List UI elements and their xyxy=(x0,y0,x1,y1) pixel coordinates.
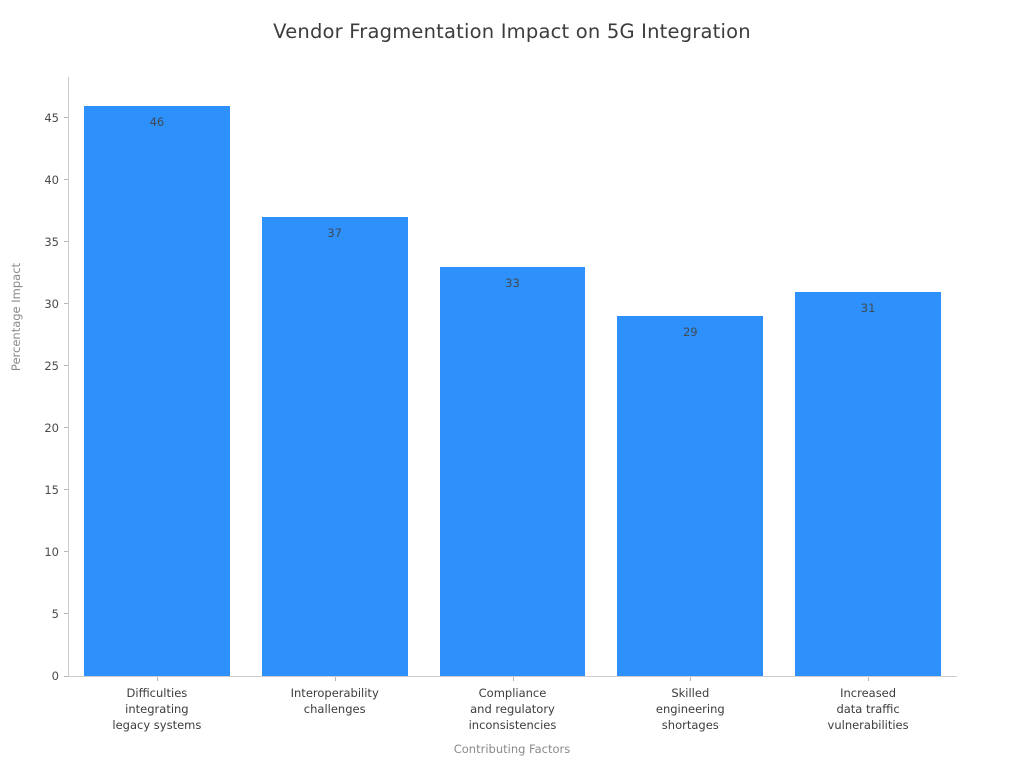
bar-value-label: 31 xyxy=(795,301,941,315)
y-axis-spine xyxy=(68,77,69,677)
y-tick-label: 25 xyxy=(44,358,59,374)
y-tick-mark xyxy=(64,365,68,366)
x-axis-title: Contributing Factors xyxy=(0,742,1024,756)
y-tick-label: 10 xyxy=(44,544,59,560)
x-tick-mark xyxy=(690,677,691,681)
bar[interactable] xyxy=(440,267,586,676)
bar-value-label: 46 xyxy=(84,115,230,129)
y-tick-label: 5 xyxy=(52,606,59,622)
y-tick-label: 45 xyxy=(44,110,59,126)
y-tick-mark xyxy=(64,117,68,118)
bar-value-label: 33 xyxy=(440,276,586,290)
y-tick-mark xyxy=(64,676,68,677)
x-category-label: Skilled engineering shortages xyxy=(601,685,779,733)
x-category-label: Compliance and regulatory inconsistencie… xyxy=(424,685,602,733)
y-tick-label: 15 xyxy=(44,482,59,498)
y-axis-title: Percentage Impact xyxy=(9,227,23,407)
bar[interactable] xyxy=(617,316,763,676)
y-tick-mark xyxy=(64,551,68,552)
y-tick-label: 0 xyxy=(52,668,59,684)
bar-value-label: 37 xyxy=(262,226,408,240)
y-tick-mark xyxy=(64,179,68,180)
chart-title: Vendor Fragmentation Impact on 5G Integr… xyxy=(0,20,1024,43)
x-category-label: Increased data traffic vulnerabilities xyxy=(779,685,957,733)
x-tick-mark xyxy=(868,677,869,681)
y-tick-label: 20 xyxy=(44,420,59,436)
bar-value-label: 29 xyxy=(617,325,763,339)
y-tick-mark xyxy=(64,489,68,490)
y-tick-mark xyxy=(64,613,68,614)
x-category-label: Interoperability challenges xyxy=(246,685,424,717)
y-tick-mark xyxy=(64,241,68,242)
x-category-label: Difficulties﻿ integrating legacy systems xyxy=(68,685,246,733)
y-tick-label: 40 xyxy=(44,172,59,188)
x-tick-mark xyxy=(157,677,158,681)
bar-chart-figure: Vendor Fragmentation Impact on 5G Integr… xyxy=(0,0,1024,768)
y-tick-mark xyxy=(64,427,68,428)
y-tick-label: 35 xyxy=(44,234,59,250)
bar[interactable] xyxy=(84,106,230,676)
bar[interactable] xyxy=(795,292,941,676)
x-tick-mark xyxy=(335,677,336,681)
y-tick-label: 30 xyxy=(44,296,59,312)
x-tick-mark xyxy=(513,677,514,681)
bar[interactable] xyxy=(262,217,408,676)
y-tick-mark xyxy=(64,303,68,304)
